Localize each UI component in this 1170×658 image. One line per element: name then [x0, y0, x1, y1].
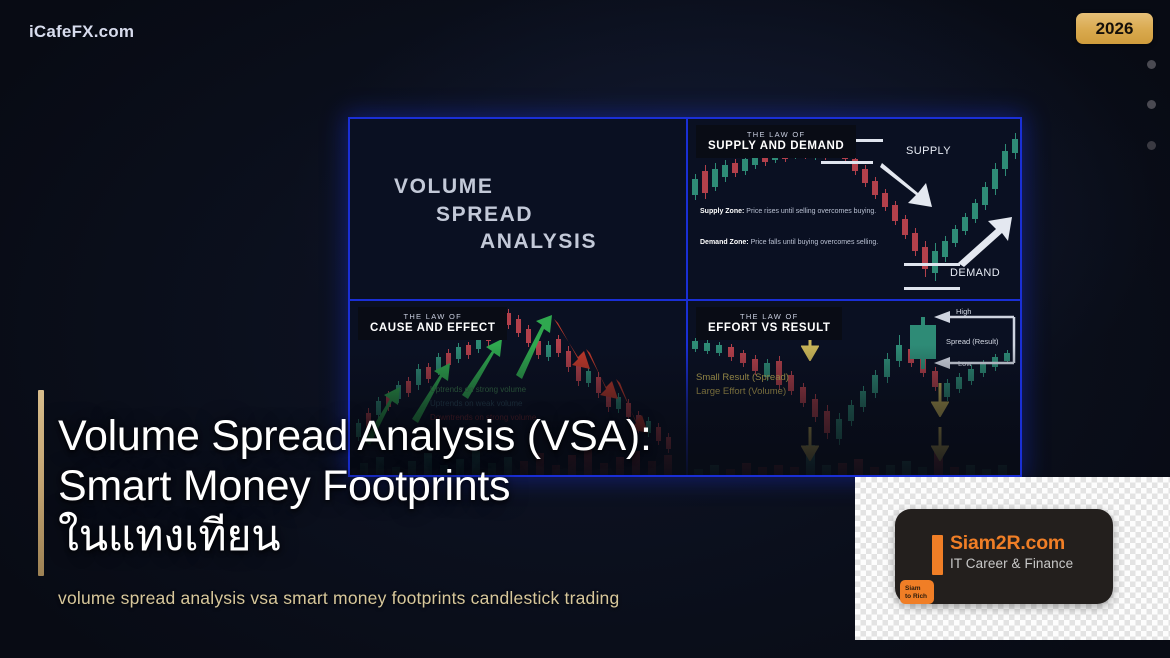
candle: [800, 387, 806, 403]
brand-tagline: IT Career & Finance: [950, 556, 1073, 571]
quadrant-volume-spread-analysis: VOLUME SPREAD ANALYSIS: [350, 119, 686, 299]
volume-bar: [758, 467, 767, 477]
page-title-line2: Smart Money Footprints: [58, 462, 510, 510]
candle: [1002, 151, 1008, 169]
candle: [752, 359, 758, 371]
vsa-word-volume: VOLUME: [394, 173, 597, 201]
quadrant-supply-and-demand: SUPPLY DEMAND Supply Zone: Price rises u…: [688, 119, 1022, 299]
volume-bar: [790, 467, 799, 477]
supply-zone-lower-line: [821, 161, 873, 164]
candle: [884, 359, 890, 377]
law-title: SUPPLY AND DEMAND: [708, 140, 844, 152]
demand-zone-upper-line: [904, 263, 960, 266]
note-small-result: Small Result (Spread): [696, 371, 789, 385]
effort-marker-arrow-icon: [931, 427, 949, 461]
vsa-wordmark: VOLUME SPREAD ANALYSIS: [394, 173, 597, 256]
candle: [740, 353, 746, 363]
candle: [902, 219, 908, 235]
supply-demand-notes: Supply Zone: Price rises until selling o…: [700, 207, 878, 268]
law-prefix: THE LAW OF: [708, 130, 844, 139]
note-uptrend-strong-volume: Uptrends on strong volume: [430, 383, 536, 397]
slide-canvas: iCafeFX.com 2026 VOLUME SPREAD ANALYSIS: [0, 0, 1170, 658]
candle: [942, 241, 948, 257]
volume-bar: [950, 467, 959, 477]
candle: [912, 233, 918, 251]
note-uptrend-weak-volume: Uptrends on weak volume: [430, 397, 536, 411]
volume-bar: [870, 467, 879, 477]
demand-zone-lower-line: [904, 287, 960, 290]
page-title: Volume Spread Analysis (VSA): Smart Mone…: [58, 412, 758, 562]
candle: [860, 391, 866, 407]
candle: [732, 163, 738, 173]
page-subtitle-keywords: volume spread analysis vsa smart money f…: [58, 588, 619, 609]
brand-lockup: Siam2R.com IT Career & Finance: [932, 533, 1073, 575]
law-tag-effort-result: THE LAW OF EFFORT VS RESULT: [696, 307, 842, 340]
volume-bar: [918, 467, 927, 477]
candle: [872, 375, 878, 393]
scroll-dot-icon: [1147, 141, 1156, 150]
candle: [704, 343, 710, 351]
page-title-line3-thai: ในแทงเทียน: [58, 512, 758, 562]
law-tag-cause-effect: THE LAW OF CAUSE AND EFFECT: [358, 307, 507, 340]
volume-bar: [886, 465, 895, 477]
supply-label: SUPPLY: [906, 145, 951, 157]
effort-result-notes: Small Result (Spread) Large Effort (Volu…: [696, 371, 789, 399]
candle: [836, 419, 842, 439]
mini-badge-line1: Siam: [905, 585, 921, 592]
candle: [692, 341, 698, 349]
law-tag-supply-demand: THE LAW OF SUPPLY AND DEMAND: [696, 125, 856, 158]
law-title: EFFORT VS RESULT: [708, 322, 830, 334]
vsa-word-analysis: ANALYSIS: [480, 228, 597, 256]
year-badge: 2026: [1076, 13, 1153, 44]
mini-badge-line2: to Rich: [905, 593, 927, 600]
candle: [848, 405, 854, 421]
law-title: CAUSE AND EFFECT: [370, 322, 495, 334]
site-logo: iCafeFX.com: [29, 22, 134, 42]
volume-bar: [982, 469, 991, 477]
scroll-dot-icon: [1147, 60, 1156, 69]
candle: [992, 169, 998, 189]
volume-bar: [822, 465, 831, 477]
spread-result-label: Spread (Result): [946, 337, 999, 346]
candle: [716, 345, 722, 353]
low-label: Low: [958, 359, 972, 368]
candle: [812, 399, 818, 417]
candle: [982, 187, 988, 205]
note-large-effort: Large Effort (Volume): [696, 385, 789, 399]
brand-accent-bar-icon: [932, 535, 943, 575]
candle: [712, 169, 718, 187]
candle: [862, 169, 868, 183]
siam-to-rich-badge: Siam to Rich: [900, 580, 934, 604]
demand-zone-text: Price falls until buying overcomes selli…: [749, 239, 879, 246]
candle: [824, 411, 830, 433]
candle: [956, 377, 962, 389]
volume-bar: [902, 461, 911, 477]
volume-bar: [998, 465, 1007, 477]
effort-marker-arrow-icon: [801, 427, 819, 461]
title-accent-bar: [38, 390, 44, 576]
vsa-word-spread: SPREAD: [436, 201, 597, 229]
supply-zone-text: Price rises until selling overcomes buyi…: [744, 208, 876, 215]
candle: [722, 165, 728, 177]
candle: [932, 251, 938, 273]
supply-down-arrow-icon: [880, 159, 938, 211]
candle: [872, 181, 878, 195]
volume-bar: [838, 463, 847, 477]
demand-up-arrow-icon: [956, 215, 1014, 267]
demand-label: DEMAND: [950, 267, 1000, 279]
candle: [896, 345, 902, 361]
brand-overlay-panel: Siam2R.com IT Career & Finance Siam to R…: [855, 477, 1170, 640]
volume-bar: [774, 465, 783, 477]
page-title-line1: Volume Spread Analysis (VSA):: [58, 412, 652, 460]
volume-bar: [966, 465, 975, 477]
brand-name: Siam2R.com: [950, 533, 1073, 553]
candle: [742, 159, 748, 171]
candle: [728, 347, 734, 357]
high-label: High: [956, 307, 971, 316]
demand-zone-note: Demand Zone: Price falls until buying ov…: [700, 238, 878, 249]
demand-zone-term: Demand Zone:: [700, 239, 749, 246]
candle: [968, 369, 974, 381]
law-prefix: THE LAW OF: [370, 312, 495, 321]
candle: [702, 171, 708, 193]
supply-zone-term: Supply Zone:: [700, 208, 744, 215]
law-prefix: THE LAW OF: [708, 312, 830, 321]
candle: [692, 179, 698, 195]
quadrant-divider-horizontal: [350, 299, 1022, 301]
candle: [1012, 139, 1018, 153]
supply-zone-note: Supply Zone: Price rises until selling o…: [700, 207, 878, 218]
volume-bar: [854, 459, 863, 477]
effort-marker-arrow-icon: [931, 383, 949, 417]
scroll-dot-icon: [1147, 100, 1156, 109]
